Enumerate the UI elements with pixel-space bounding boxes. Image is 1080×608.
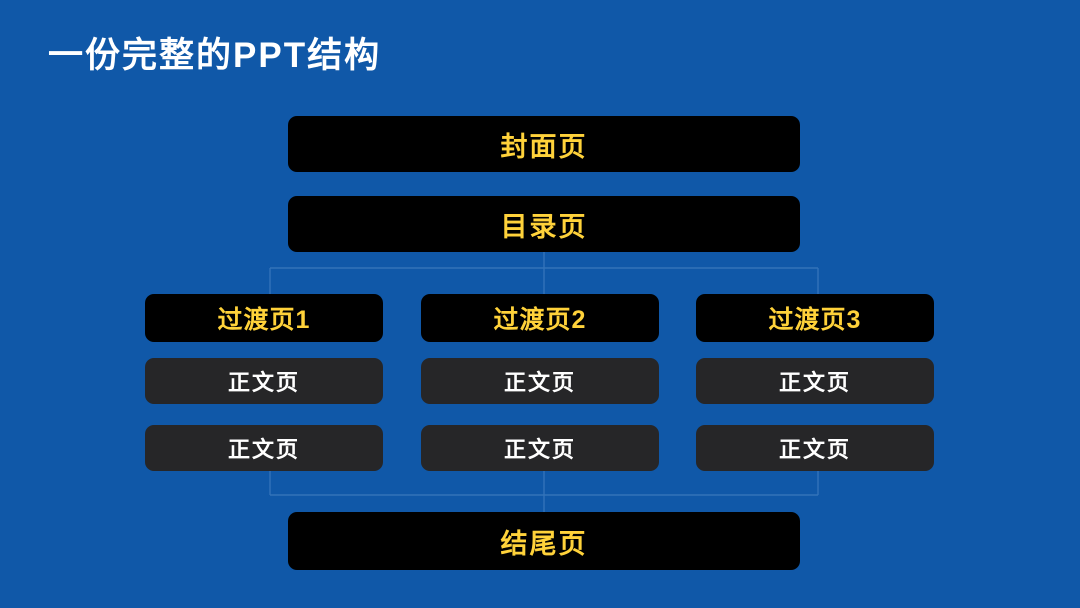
node-body-page-1-2[interactable]: 正文页	[145, 425, 383, 471]
node-transition-page-3[interactable]: 过渡页3	[696, 294, 934, 342]
node-cover-page-label: 封面页	[501, 125, 588, 164]
node-body-page-1-1[interactable]: 正文页	[145, 358, 383, 404]
node-transition-page-3-label: 过渡页3	[769, 300, 862, 336]
node-transition-page-2-label: 过渡页2	[494, 300, 587, 336]
node-body-page-2-2[interactable]: 正文页	[421, 425, 659, 471]
node-body-page-1-2-label: 正文页	[228, 432, 300, 464]
node-body-page-3-1-label: 正文页	[779, 365, 851, 397]
presentation-slide: 一份完整的PPT结构 封面页 目录页 过渡页1 过	[0, 0, 1080, 608]
node-body-page-2-1-label: 正文页	[504, 365, 576, 397]
node-body-page-2-1[interactable]: 正文页	[421, 358, 659, 404]
node-cover-page[interactable]: 封面页	[288, 116, 800, 172]
node-ending-page-label: 结尾页	[501, 522, 588, 561]
node-transition-page-2[interactable]: 过渡页2	[421, 294, 659, 342]
node-toc-page[interactable]: 目录页	[288, 196, 800, 252]
node-body-page-1-1-label: 正文页	[228, 365, 300, 397]
node-toc-page-label: 目录页	[501, 205, 588, 244]
node-transition-page-1-label: 过渡页1	[218, 300, 311, 336]
node-ending-page[interactable]: 结尾页	[288, 512, 800, 570]
node-body-page-3-2-label: 正文页	[779, 432, 851, 464]
node-body-page-3-2[interactable]: 正文页	[696, 425, 934, 471]
page-title: 一份完整的PPT结构	[48, 33, 381, 79]
node-body-page-2-2-label: 正文页	[504, 432, 576, 464]
node-body-page-3-1[interactable]: 正文页	[696, 358, 934, 404]
node-transition-page-1[interactable]: 过渡页1	[145, 294, 383, 342]
